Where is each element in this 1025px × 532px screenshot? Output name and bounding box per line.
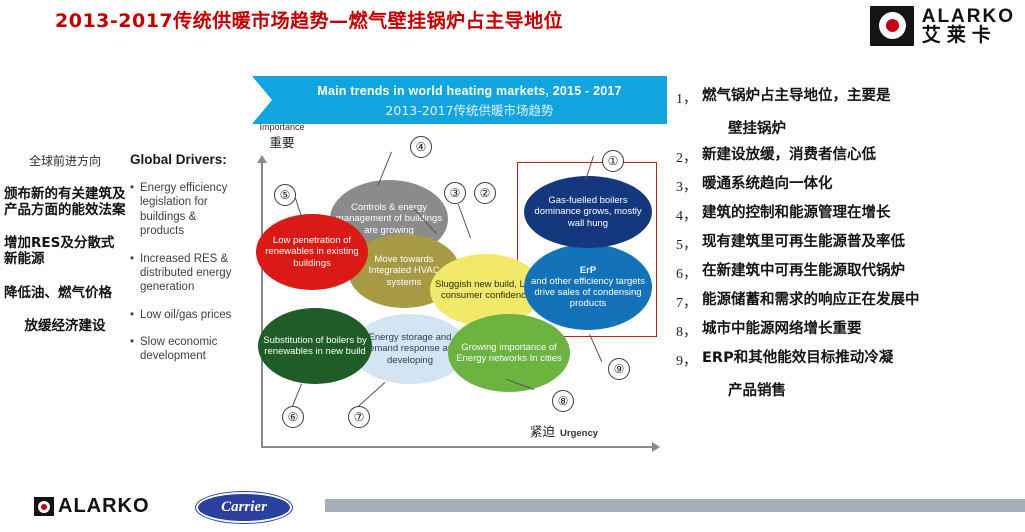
point-item-9: 9， ERP和其他能效目标推动冷凝 [676,350,1021,370]
leader-line-7 [358,382,385,407]
x-axis-label-cn: 紧迫 [530,421,555,440]
point-label: 在新建筑中可再生能源取代锅炉 [702,263,905,280]
point-label: 燃气锅炉占主导地位，主要是 [702,88,891,105]
point-label: 现有建筑里可再生能源普及率低 [702,234,905,251]
y-axis-label-en: Importance [246,122,318,132]
alarko-target-logo-icon [34,497,54,516]
key-points-list: 1， 燃气锅炉占主导地位，主要是 壁挂锅炉 2， 新建设放缓，消费者信心低 3，… [676,88,1021,409]
left-note-1: 增加RES及分散式新能源 [4,236,126,267]
point-continuation-9: 产品销售 [728,379,1021,400]
leader-line-2 [458,204,471,238]
footer-carrier-text: Carrier [221,499,267,516]
left-annotation-column: 全球前进方向 颁布新的有关建筑及产品方面的能效法案 增加RES及分散式新能源 降… [4,152,126,353]
x-axis-label: 紧迫 Urgency [530,421,598,440]
callout-5[interactable]: ⑤ [274,184,296,206]
alarko-brand-logo: ALARKO 艾莱卡 [870,4,1015,48]
point-item-7: 7， 能源储蓄和需求的响应正在发展中 [676,292,1021,312]
bullet-icon: • [130,181,140,239]
chart-banner-title-cn: 2013-2017传统供暖市场趋势 [272,100,667,119]
bubble-substitution-of-boilers[interactable]: Substitution of boilers by renewables in… [258,308,372,384]
point-number: 4， [676,205,702,225]
global-drivers-title: Global Drivers: [130,152,242,167]
callout-9[interactable]: ⑨ [608,358,630,380]
callout-4[interactable]: ④ [410,136,432,158]
point-number: 9， [676,350,702,370]
footer-alarko-text: ALARKO [58,495,150,518]
y-axis-label: Importance 重要 [246,122,318,151]
point-label: 城市中能源网络增长重要 [702,321,862,338]
left-note-2: 降低油、燃气价格 [4,286,126,302]
bubble-low-penetration-renewables[interactable]: Low penetration of renewables in existin… [256,214,368,290]
left-note-0: 颁布新的有关建筑及产品方面的能效法案 [4,187,126,218]
point-label: 新建设放缓，消费者信心低 [702,147,876,164]
footer-decorative-bar [325,499,1025,512]
callout-8[interactable]: ⑧ [552,390,574,412]
bullet-icon: • [130,335,140,364]
chart-banner-title-en: Main trends in world heating markets, 20… [272,76,667,98]
point-item-6: 6， 在新建筑中可再生能源取代锅炉 [676,263,1021,283]
point-item-2: 2， 新建设放缓，消费者信心低 [676,147,1021,167]
leader-line-9 [589,334,602,362]
bubble-plot: Importance 重要 紧迫 Urgency Controls & ener… [252,138,667,456]
driver-label: Increased RES & distributed energy gener… [140,252,242,295]
driver-label: Slow economic development [140,335,242,364]
callout-3[interactable]: ③ [444,182,466,204]
point-number: 5， [676,234,702,254]
x-axis-label-en: Urgency [560,428,598,439]
footer-alarko-logo: ALARKO [34,495,150,518]
left-column-heading: 全球前进方向 [4,152,126,169]
point-item-8: 8， 城市中能源网络增长重要 [676,321,1021,341]
bubble-erp-title: ErP [580,265,596,276]
point-label: 暖通系统趋向一体化 [702,176,833,193]
bullet-icon: • [130,308,140,322]
alarko-target-logo-icon [870,6,914,46]
bubble-erp-condensing-products[interactable]: ErP and other efficiency targets drive s… [524,244,652,330]
bubble-gas-fuelled-boilers[interactable]: Gas-fuelled boilers dominance grows, mos… [524,176,652,248]
y-axis-line [261,162,263,447]
point-label: 能源储蓄和需求的响应正在发展中 [702,292,920,309]
driver-item: • Energy efficiency legislation for buil… [130,181,242,239]
x-axis-line [261,446,657,448]
left-note-3: 放缓经济建设 [4,319,126,335]
point-item-5: 5， 现有建筑里可再生能源普及率低 [676,234,1021,254]
callout-1[interactable]: ① [602,150,624,172]
point-number: 8， [676,321,702,341]
bullet-icon: • [130,252,140,295]
driver-label: Energy efficiency legislation for buildi… [140,181,242,239]
slide-footer: ALARKO Carrier [0,486,1025,532]
point-item-4: 4， 建筑的控制和能源管理在增长 [676,205,1021,225]
point-item-1: 1， 燃气锅炉占主导地位，主要是 [676,88,1021,108]
x-axis-arrow-icon [652,442,660,452]
y-axis-label-cn: 重要 [246,132,318,151]
global-drivers-panel: Global Drivers: • Energy efficiency legi… [130,152,242,377]
bubble-erp-body: and other efficiency targets drive sales… [528,276,648,310]
point-number: 3， [676,176,702,196]
driver-item: • Low oil/gas prices [130,308,242,322]
point-number: 2， [676,147,702,167]
driver-item: • Increased RES & distributed energy gen… [130,252,242,295]
trends-chart-panel: Main trends in world heating markets, 20… [252,76,667,456]
y-axis-arrow-icon [257,155,267,163]
callout-2[interactable]: ② [474,182,496,204]
point-number: 1， [676,88,702,108]
point-label: ERP和其他能效目标推动冷凝 [702,350,893,367]
point-label: 建筑的控制和能源管理在增长 [702,205,891,222]
callout-7[interactable]: ⑦ [348,406,370,428]
point-number: 6， [676,263,702,283]
driver-label: Low oil/gas prices [140,308,231,322]
point-number: 7， [676,292,702,312]
footer-carrier-logo: Carrier [196,492,292,523]
callout-6[interactable]: ⑥ [282,406,304,428]
point-item-3: 3， 暖通系统趋向一体化 [676,176,1021,196]
chart-banner: Main trends in world heating markets, 20… [272,76,667,124]
brand-name-cn: 艾莱卡 [922,26,1015,45]
driver-item: • Slow economic development [130,335,242,364]
page-title: 2013-2017传统供暖市场趋势—燃气壁挂锅炉占主导地位 [55,6,655,33]
point-continuation-1: 壁挂锅炉 [728,117,1021,138]
brand-wordmark: ALARKO 艾莱卡 [922,7,1015,45]
